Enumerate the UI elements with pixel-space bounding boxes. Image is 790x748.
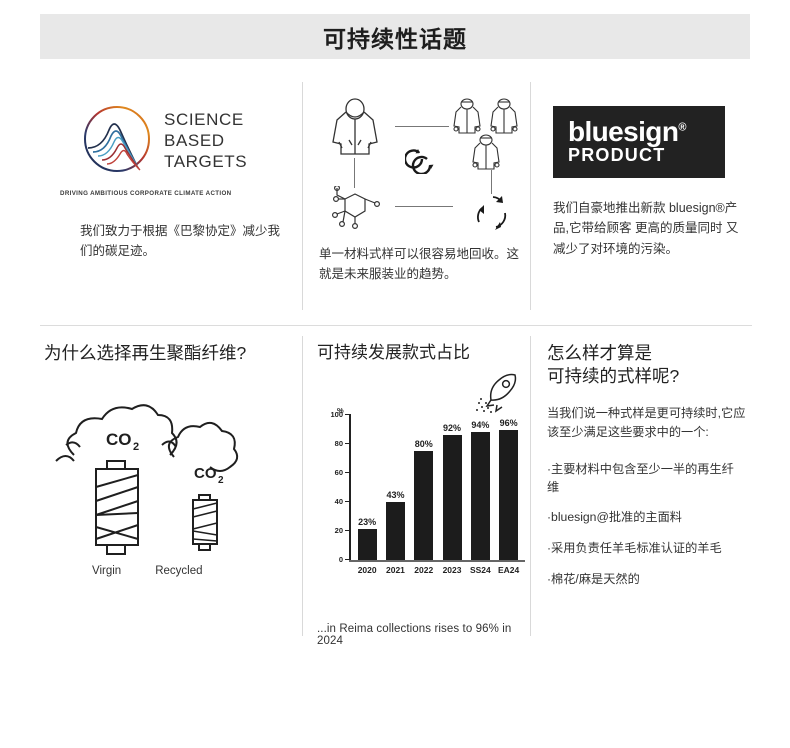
- criteria-title-line-2: 可持续的式样呢?: [547, 365, 746, 388]
- x-tick-label: EA24: [494, 565, 522, 575]
- y-axis-line: [349, 414, 351, 562]
- y-tick-label: 40: [321, 497, 343, 506]
- bluesign-subtitle: PRODUCT: [568, 146, 725, 166]
- y-axis-labels: 100 80 60 40 20 0: [319, 390, 343, 605]
- svg-text:2: 2: [218, 475, 224, 486]
- registered-mark: ®: [678, 121, 686, 133]
- connector-top: [395, 126, 449, 127]
- bar: [358, 529, 377, 560]
- x-axis-line: [349, 560, 525, 562]
- criteria-bullet-list: ·主要材料中包含至少一半的再生纤维·bluesign@批准的主面料·采用负责任羊…: [547, 461, 746, 588]
- bar-item: 43%: [381, 414, 409, 560]
- svg-text:CO: CO: [194, 465, 217, 482]
- spool-label-virgin: Virgin: [92, 565, 121, 577]
- chart-caption: ...in Reima collections rises to 96% in …: [317, 623, 522, 647]
- bar-value-label: 80%: [415, 439, 433, 449]
- bar-value-label: 96%: [500, 418, 518, 428]
- molecule-icon: [329, 186, 385, 235]
- bar-item: 23%: [353, 414, 381, 560]
- bar-value-label: 43%: [386, 490, 404, 500]
- spool-label-recycled: Recycled: [155, 565, 202, 577]
- y-tick-label: 80: [321, 439, 343, 448]
- chart-title: 可持续发展款式占比: [317, 342, 522, 364]
- panel-bluesign: bluesign® PRODUCT 我们自豪地推出新款 bluesign®产品,…: [530, 82, 750, 310]
- science-based-targets-logo-icon: [80, 102, 154, 181]
- circularity-diagram: [323, 96, 535, 222]
- bar-series: 23%43%80%92%94%96%: [353, 414, 523, 560]
- sbt-line-2: BASED: [164, 131, 247, 152]
- circularity-description: 单一材料式样可以很容易地回收。这就是未来服装业的趋势。: [319, 244, 520, 285]
- panel-sustainable-share: 可持续发展款式占比: [302, 336, 530, 636]
- connector-bottom: [395, 206, 453, 207]
- bar: [499, 430, 518, 560]
- bar: [414, 451, 433, 560]
- bluesign-description: 我们自豪地推出新款 bluesign®产品,它带给顾客 更高的质量同时 又减少了…: [553, 198, 744, 259]
- bottom-row: 为什么选择再生聚酯纤维? CO 2 CO 2: [40, 336, 750, 636]
- bar-chart: % 100 80 60 40 20 0: [319, 390, 527, 605]
- page-header-band: 可持续性话题: [40, 14, 750, 59]
- x-tick-label: SS24: [466, 565, 494, 575]
- criteria-bullet: ·主要材料中包含至少一半的再生纤维: [547, 461, 746, 496]
- spool-labels: Virgin Recycled: [44, 565, 294, 577]
- y-tick-label: 0: [321, 555, 343, 564]
- sustainability-topics-page: 可持续性话题: [0, 0, 790, 748]
- bar: [386, 502, 405, 560]
- sbt-tagline: DRIVING AMBITIOUS CORPORATE CLIMATE ACTI…: [60, 190, 288, 197]
- svg-text:2: 2: [133, 441, 139, 453]
- panel-criteria: 怎么样才算是 可持续的式样呢? 当我们说一种式样是更可持续时,它应该至少满足这些…: [530, 336, 750, 636]
- svg-text:CO: CO: [106, 430, 132, 449]
- page-title: 可持续性话题: [323, 20, 467, 54]
- y-tick-label: 60: [321, 468, 343, 477]
- sbt-line-1: SCIENCE: [164, 110, 247, 131]
- x-axis-labels: 2020202120222023SS24EA24: [353, 565, 523, 575]
- connector-right: [491, 170, 492, 194]
- y-tick-label: 20: [321, 526, 343, 535]
- recycle-icon: [469, 192, 517, 241]
- y-tick-label: 100: [321, 410, 343, 419]
- x-tick-label: 2023: [438, 565, 466, 575]
- x-tick-label: 2022: [410, 565, 438, 575]
- bar-value-label: 94%: [471, 420, 489, 430]
- criteria-title: 怎么样才算是 可持续的式样呢?: [547, 342, 746, 388]
- sbt-line-3: TARGETS: [164, 152, 247, 173]
- infinity-loop-icon: [405, 144, 455, 179]
- kids-jackets-icon: [453, 96, 531, 177]
- co2-spools-illustration: CO 2 CO 2: [44, 383, 294, 598]
- panel-science-based-targets: SCIENCE BASED TARGETS DRIVING AMBITIOUS …: [40, 82, 302, 310]
- bar: [471, 432, 490, 560]
- bar-value-label: 23%: [358, 517, 376, 527]
- bar-value-label: 92%: [443, 423, 461, 433]
- criteria-bullet: ·bluesign@批准的主面料: [547, 509, 746, 527]
- sbt-wordmark: SCIENCE BASED TARGETS: [164, 110, 247, 172]
- bar-item: 80%: [410, 414, 438, 560]
- bluesign-brand: bluesign: [568, 116, 678, 147]
- x-tick-label: 2020: [353, 565, 381, 575]
- bar: [443, 435, 462, 560]
- bluesign-logo: bluesign® PRODUCT: [553, 106, 725, 178]
- connector-left: [354, 158, 355, 188]
- bar-item: 94%: [466, 414, 494, 560]
- sbt-description: 我们致力于根据《巴黎协定》减少我们的碳足迹。: [80, 221, 288, 262]
- why-recycled-title: 为什么选择再生聚酯纤维?: [44, 342, 292, 365]
- panel-why-recycled-polyester: 为什么选择再生聚酯纤维? CO 2 CO 2: [40, 336, 302, 636]
- bluesign-wordmark: bluesign®: [568, 119, 725, 146]
- section-divider: [40, 325, 752, 326]
- jacket-icon: [329, 98, 381, 163]
- criteria-bullet: ·采用负责任羊毛标准认证的羊毛: [547, 540, 746, 558]
- top-row: SCIENCE BASED TARGETS DRIVING AMBITIOUS …: [40, 82, 750, 310]
- x-tick-label: 2021: [381, 565, 409, 575]
- criteria-intro: 当我们说一种式样是更可持续时,它应该至少满足这些要求中的一个:: [547, 404, 746, 444]
- bar-item: 92%: [438, 414, 466, 560]
- criteria-title-line-1: 怎么样才算是: [547, 342, 746, 365]
- panel-circularity: 单一材料式样可以很容易地回收。这就是未来服装业的趋势。: [302, 82, 530, 310]
- sbt-logo-block: SCIENCE BASED TARGETS: [80, 102, 288, 181]
- criteria-bullet: ·棉花/麻是天然的: [547, 571, 746, 589]
- bar-item: 96%: [494, 414, 522, 560]
